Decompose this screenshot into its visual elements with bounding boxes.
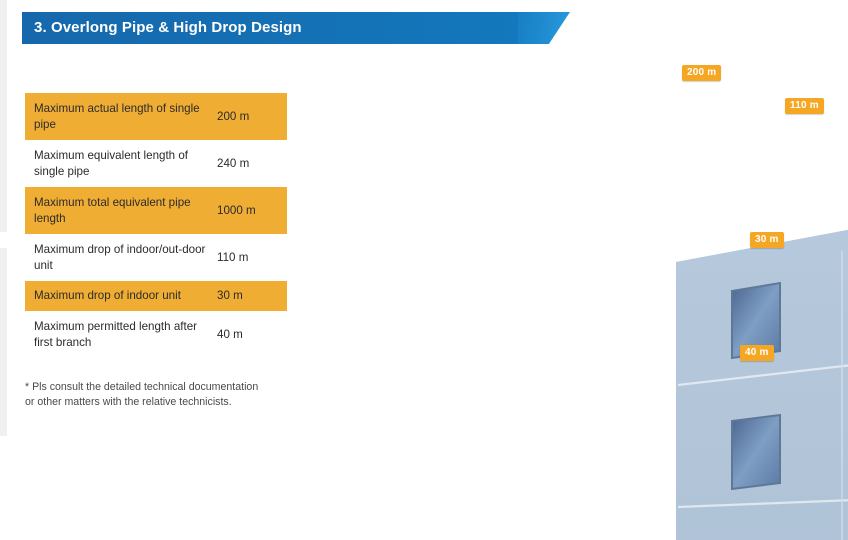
spec-value: 1000 m <box>217 203 279 219</box>
spec-table: Maximum actual length of single pipe 200… <box>25 93 287 358</box>
callout-110m: 110 m <box>785 98 824 114</box>
spec-label: Maximum drop of indoor unit <box>34 288 181 304</box>
table-row: Maximum permitted length after first bra… <box>25 311 287 358</box>
callout-30m: 30 m <box>750 232 784 248</box>
callout-40m: 40 m <box>740 345 774 361</box>
table-row: Maximum equivalent length of single pipe… <box>25 140 287 187</box>
spec-label: Maximum equivalent length of single pipe <box>34 148 210 179</box>
spec-label: Maximum actual length of single pipe <box>34 101 210 132</box>
page-title: 3. Overlong Pipe & High Drop Design <box>34 12 302 44</box>
slide-page: 3. Overlong Pipe & High Drop Design Maxi… <box>0 0 848 540</box>
building-illustration: 200 m 110 m 30 m 40 m <box>380 55 848 540</box>
spec-label: Maximum total equivalent pipe length <box>34 195 210 226</box>
page-edge-strip-top <box>0 0 7 232</box>
building-render <box>380 55 848 540</box>
footnote-line-2: or other matters with the relative techn… <box>25 395 307 410</box>
table-row: Maximum drop of indoor/out-door unit 110… <box>25 234 287 281</box>
spec-value: 110 m <box>217 250 279 266</box>
spec-value: 40 m <box>217 327 279 343</box>
spec-label: Maximum drop of indoor/out-door unit <box>34 242 210 273</box>
footnote-line-1: * Pls consult the detailed technical doc… <box>25 380 307 395</box>
callout-200m: 200 m <box>682 65 721 81</box>
table-footnote: * Pls consult the detailed technical doc… <box>25 380 307 410</box>
section-banner: 3. Overlong Pipe & High Drop Design <box>22 12 570 44</box>
table-row: Maximum total equivalent pipe length 100… <box>25 187 287 234</box>
page-edge-strip-bottom <box>0 248 7 436</box>
table-row: Maximum drop of indoor unit 30 m <box>25 281 287 311</box>
table-row: Maximum actual length of single pipe 200… <box>25 93 287 140</box>
spec-label: Maximum permitted length after first bra… <box>34 319 210 350</box>
spec-value: 200 m <box>217 109 279 125</box>
spec-value: 30 m <box>217 288 279 304</box>
spec-value: 240 m <box>217 156 279 172</box>
